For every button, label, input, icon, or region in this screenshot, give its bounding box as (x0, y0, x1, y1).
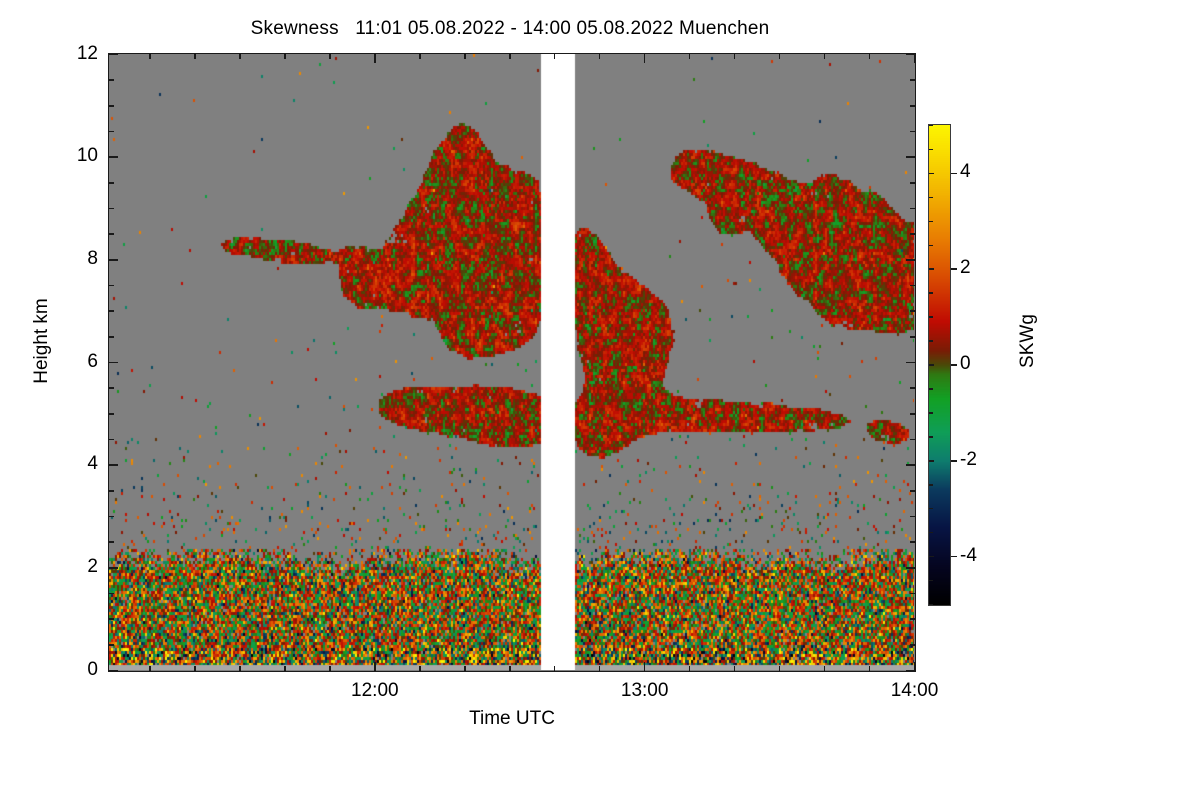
colorbar-tick-minor (929, 197, 933, 199)
y-tick-major (108, 464, 118, 466)
x-tick-minor-top (239, 53, 241, 59)
x-tick-major-top (644, 53, 646, 63)
x-tick-minor-top (734, 53, 736, 59)
y-tick-label: 0 (8, 659, 98, 681)
x-tick-minor (779, 666, 781, 672)
colorbar-tick-label: -2 (960, 449, 977, 471)
y-tick-minor (108, 233, 114, 235)
y-tick-minor (108, 439, 114, 441)
figure-root: Skewness 11:01 05.08.2022 - 14:00 05.08.… (0, 0, 1200, 800)
y-tick-minor-right (910, 541, 916, 543)
colorbar-tick-minor (929, 580, 933, 582)
x-tick-minor (464, 666, 466, 672)
y-axis-title: Height km (31, 241, 53, 441)
y-tick-major (108, 670, 118, 672)
x-tick-minor-top (509, 53, 511, 59)
colorbar-tick (951, 364, 957, 366)
colorbar-tick-inner (929, 173, 934, 175)
y-tick-label: 6 (8, 351, 98, 373)
y-tick-label: 12 (8, 43, 98, 65)
y-tick-minor (108, 413, 114, 415)
y-tick-label: 2 (8, 556, 98, 578)
y-tick-minor-right (910, 413, 916, 415)
colorbar-tick (951, 268, 957, 270)
x-tick-minor-top (464, 53, 466, 59)
x-tick-minor-top (869, 53, 871, 59)
y-tick-major (108, 156, 118, 158)
y-tick-minor-right (910, 310, 916, 312)
y-tick-minor (108, 516, 114, 518)
y-tick-minor-right (910, 593, 916, 595)
colorbar-tick-label: 4 (960, 161, 971, 183)
colorbar-tick-minor (929, 532, 933, 534)
y-tick-minor-right (910, 439, 916, 441)
y-tick-minor-right (910, 79, 916, 81)
colorbar-tick-minor (929, 316, 933, 318)
x-tick-minor (554, 666, 556, 672)
x-axis-title: Time UTC (108, 708, 916, 730)
x-tick-minor-top (599, 53, 601, 59)
x-tick-label: 13:00 (585, 680, 705, 702)
colorbar-tick-minor (929, 388, 933, 390)
x-tick-minor (734, 666, 736, 672)
y-tick-major (108, 54, 118, 56)
colorbar-tick-label: 0 (960, 353, 971, 375)
x-tick-minor-top (284, 53, 286, 59)
y-tick-minor-right (910, 618, 916, 620)
heatmap-canvas (109, 54, 914, 670)
y-tick-minor-right (910, 233, 916, 235)
x-tick-label: 14:00 (855, 680, 975, 702)
x-tick-minor (419, 666, 421, 672)
y-tick-major (108, 362, 118, 364)
y-tick-major-right (906, 464, 916, 466)
y-tick-minor (108, 387, 114, 389)
y-tick-minor (108, 593, 114, 595)
y-tick-minor (108, 79, 114, 81)
y-tick-minor (108, 644, 114, 646)
colorbar-tick-minor (929, 340, 933, 342)
y-tick-label: 8 (8, 248, 98, 270)
colorbar-tick-inner (929, 460, 934, 462)
y-tick-minor-right (910, 644, 916, 646)
y-tick-minor (108, 541, 114, 543)
y-tick-major-right (906, 567, 916, 569)
y-tick-minor (108, 105, 114, 107)
y-tick-minor-right (910, 336, 916, 338)
y-tick-minor (108, 490, 114, 492)
colorbar-tick (951, 173, 957, 175)
plot-area[interactable] (108, 53, 916, 672)
y-tick-minor-right (910, 105, 916, 107)
x-tick-minor-top (689, 53, 691, 59)
y-tick-major-right (906, 156, 916, 158)
y-tick-minor (108, 618, 114, 620)
y-tick-minor (108, 285, 114, 287)
x-tick-major (914, 662, 916, 672)
y-tick-minor (108, 310, 114, 312)
y-tick-major-right (906, 259, 916, 261)
y-tick-minor (108, 182, 114, 184)
x-tick-minor (239, 666, 241, 672)
x-tick-major (374, 662, 376, 672)
colorbar-tick-minor (929, 292, 933, 294)
colorbar-title: SKWg (1017, 261, 1039, 421)
colorbar-tick-minor (929, 125, 933, 127)
colorbar-tick-minor (929, 508, 933, 510)
x-tick-minor-top (194, 53, 196, 59)
x-tick-major (644, 662, 646, 672)
x-tick-minor-top (149, 53, 151, 59)
x-tick-minor (824, 666, 826, 672)
colorbar-tick-inner (929, 268, 934, 270)
x-tick-minor-top (554, 53, 556, 59)
y-tick-minor-right (910, 490, 916, 492)
colorbar-tick-inner (929, 556, 934, 558)
colorbar-tick-inner (929, 364, 934, 366)
y-tick-major (108, 259, 118, 261)
colorbar-tick-minor (929, 436, 933, 438)
colorbar-tick-minor (929, 149, 933, 151)
y-tick-label: 4 (8, 453, 98, 475)
x-tick-major-top (374, 53, 376, 63)
y-tick-minor-right (910, 182, 916, 184)
y-tick-label: 10 (8, 145, 98, 167)
y-tick-minor-right (910, 516, 916, 518)
x-tick-minor-top (824, 53, 826, 59)
colorbar-tick-minor (929, 604, 933, 606)
y-tick-major-right (906, 362, 916, 364)
colorbar-tick (951, 460, 957, 462)
colorbar-tick-minor (929, 412, 933, 414)
colorbar-tick-label: 2 (960, 257, 971, 279)
y-tick-minor (108, 336, 114, 338)
colorbar-tick-label: -4 (960, 545, 977, 567)
y-tick-minor (108, 131, 114, 133)
colorbar-tick-minor (929, 484, 933, 486)
x-tick-minor (194, 666, 196, 672)
x-tick-minor-top (329, 53, 331, 59)
colorbar-tick-minor (929, 245, 933, 247)
x-tick-minor (599, 666, 601, 672)
x-tick-minor-top (419, 53, 421, 59)
y-tick-minor-right (910, 387, 916, 389)
x-tick-minor (869, 666, 871, 672)
y-tick-minor-right (910, 208, 916, 210)
x-tick-minor (689, 666, 691, 672)
y-tick-minor (108, 208, 114, 210)
x-tick-minor-top (779, 53, 781, 59)
x-tick-minor (284, 666, 286, 672)
colorbar-tick-minor (929, 221, 933, 223)
y-tick-major (108, 567, 118, 569)
x-tick-minor (509, 666, 511, 672)
y-tick-minor-right (910, 131, 916, 133)
y-tick-minor-right (910, 285, 916, 287)
chart-title: Skewness 11:01 05.08.2022 - 14:00 05.08.… (0, 18, 1020, 40)
x-tick-major-top (914, 53, 916, 63)
colorbar-tick (951, 556, 957, 558)
x-tick-label: 12:00 (315, 680, 435, 702)
x-tick-minor (329, 666, 331, 672)
x-tick-minor (149, 666, 151, 672)
